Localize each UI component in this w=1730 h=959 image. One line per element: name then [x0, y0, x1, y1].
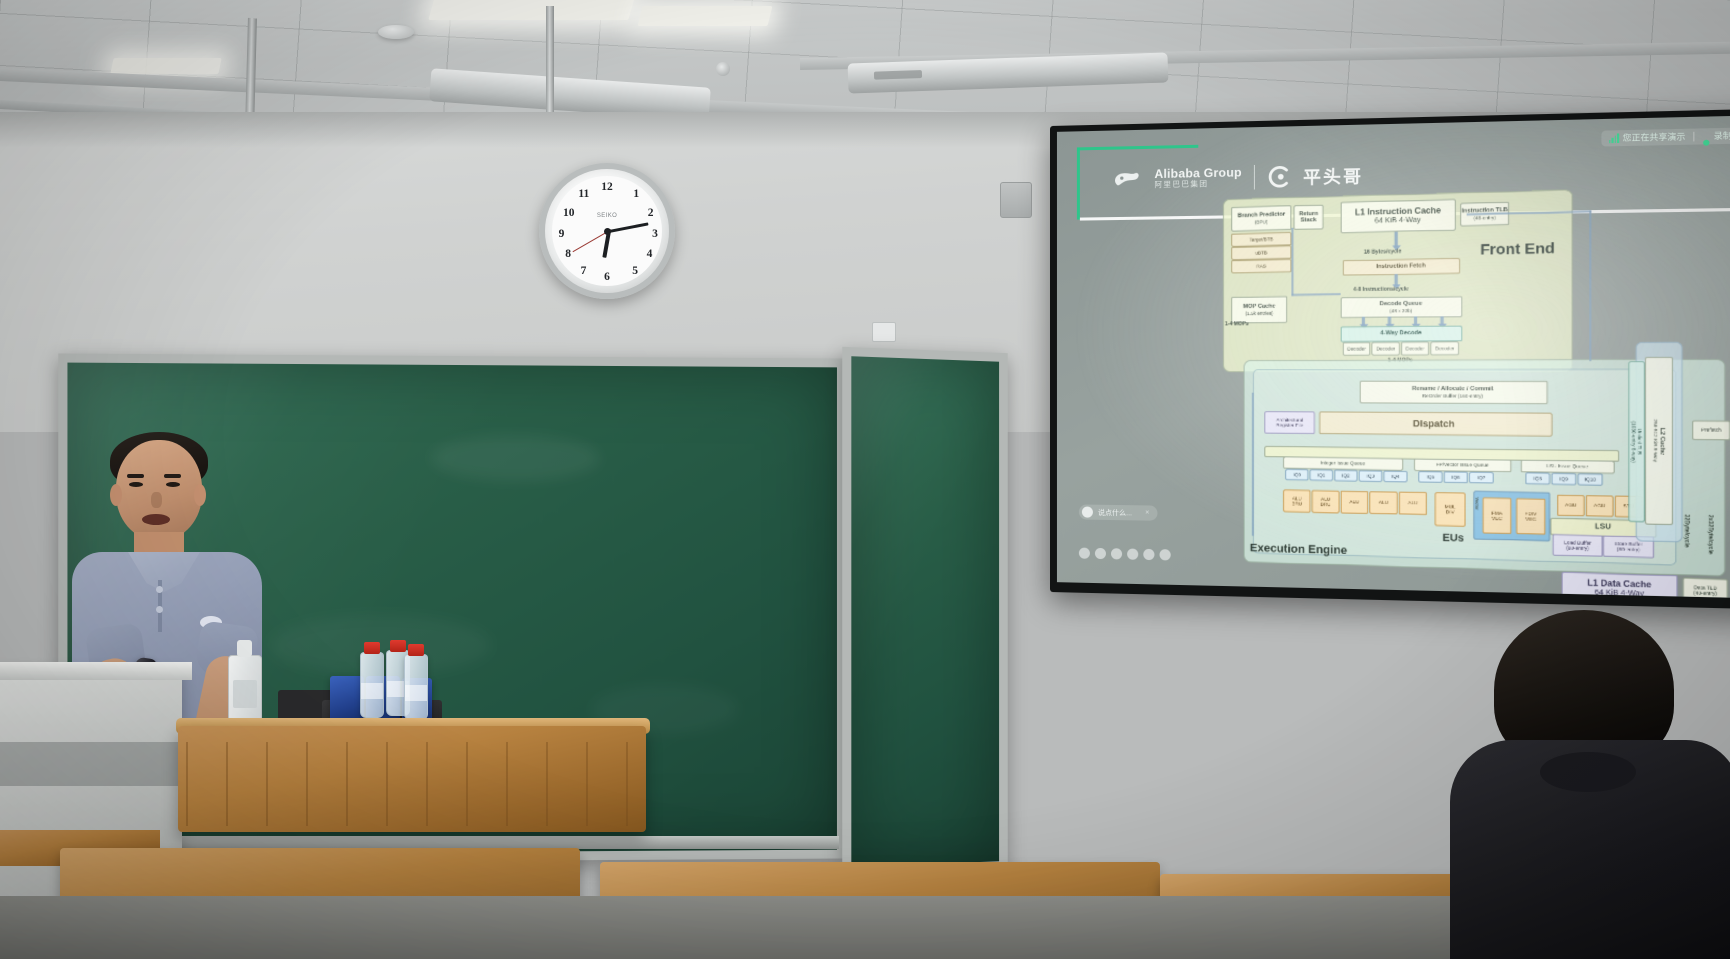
issue-slot: IQ7 [1469, 472, 1494, 484]
clock-numeral: 3 [652, 228, 658, 240]
clock-numeral: 12 [601, 181, 613, 193]
brand-divider [1254, 164, 1255, 189]
block-decoder: Decoder [1430, 342, 1459, 356]
flow-label-mops: 1-4 MOPs [1225, 321, 1249, 327]
block-decode-queue: Decode Queue (48 x 32b) [1340, 296, 1462, 318]
issue-slot: IQ10 [1578, 473, 1603, 485]
issue-slot: IQ2 [1334, 470, 1358, 482]
connector [1589, 210, 1591, 361]
block-prefetch: Prefetch [1692, 420, 1730, 440]
slide-branding: Alibaba Group 阿里巴巴集团 平头哥 [1112, 162, 1363, 192]
block-instruction-fetch: Instruction Fetch [1343, 258, 1461, 276]
eus-label: EUs [1442, 532, 1464, 544]
flow-label-instructions-cycle: 4-8 Instructions/cycle [1353, 286, 1408, 293]
issue-slot: IQ5 [1418, 471, 1442, 483]
avatar [1082, 506, 1093, 517]
exec-unit: ALU [1399, 492, 1427, 516]
clock-numeral: 5 [632, 265, 638, 277]
sprinkler-head-icon [716, 62, 730, 76]
wall-clock: 12 1 2 3 4 5 6 7 8 9 10 11 SEIKO [539, 163, 675, 299]
flow-label-bytes-cycle: 16 Bytes/cycle [1364, 249, 1401, 256]
exec-unit: MULDIV [1435, 492, 1466, 526]
issue-slot: IQ4 [1383, 470, 1407, 482]
ceiling-light-panel [110, 58, 221, 74]
flow-arrow [1440, 316, 1443, 324]
issue-slot: IQ3 [1359, 470, 1383, 482]
sharing-status: 您正在共享演示 [1609, 131, 1686, 144]
signal-bars-icon [1609, 134, 1619, 143]
clock-brand-label: SEIKO [597, 213, 617, 219]
toolbar-eraser-icon[interactable] [1095, 548, 1106, 559]
presentation-slide: Alibaba Group 阿里巴巴集团 平头哥 [1057, 115, 1730, 599]
seated-attendee [1468, 610, 1730, 959]
block-rename-allocate-commit: Rename / Allocate / Commit ReOrder Buffe… [1360, 381, 1548, 405]
chalk-smudge [431, 435, 600, 482]
thead-name-cn: 平头哥 [1303, 162, 1363, 189]
exec-unit-agu: AGU [1586, 495, 1614, 517]
flow-arrow [1414, 317, 1417, 325]
block-decoder: Decoder [1343, 342, 1371, 356]
front-end-label: Front End [1480, 239, 1555, 257]
sharing-status-label: 您正在共享演示 [1623, 131, 1686, 144]
blue-box [330, 676, 364, 722]
slide-accent-line [1077, 147, 1080, 219]
ceiling-light-panel [428, 0, 635, 20]
flow-arrow [1362, 317, 1365, 325]
recording-status[interactable]: 录制中 [1702, 130, 1730, 143]
ceiling-light-panel [638, 6, 773, 26]
block-ras: RAS [1231, 259, 1291, 273]
clock-dial: 12 1 2 3 4 5 6 7 8 9 10 11 SEIKO [552, 176, 662, 286]
toolbar-shape-icon[interactable] [1111, 548, 1122, 559]
recording-status-label: 录制中 [1714, 130, 1730, 142]
water-bottle [404, 654, 428, 720]
block-branch-predictor: Branch Predictor (BPU) [1231, 205, 1291, 231]
flow-arrow [1394, 274, 1397, 286]
exec-unit: ALU [1369, 491, 1397, 515]
block-unified-tlb: Unified TLB (1030-entry 8-way) [1628, 361, 1644, 522]
vector-label: Vector [1475, 497, 1481, 510]
meeting-toolbar[interactable] [1079, 548, 1171, 561]
clock-numeral: 11 [578, 188, 589, 200]
clock-numeral: 7 [581, 265, 587, 277]
lecture-hall-scene: 12 1 2 3 4 5 6 7 8 9 10 11 SEIKO [0, 0, 1730, 959]
exec-unit: ALUBRU [1283, 489, 1310, 512]
toolbar-pen-icon[interactable] [1079, 548, 1090, 559]
issue-slot: IQ0 [1285, 469, 1308, 481]
blackboard-side [842, 347, 1007, 876]
flow-arrow [1394, 232, 1397, 247]
wall-socket [872, 322, 896, 342]
alibaba-name-cn: 阿里巴巴集团 [1154, 179, 1241, 189]
block-load-buffer: Load Buffer (80-entry) [1552, 534, 1603, 557]
block-4-way-decode: 4-Way Decode [1340, 326, 1462, 342]
toolbar-more-icon[interactable] [1143, 549, 1154, 560]
table-slats [186, 742, 638, 826]
flow-arrow [1388, 317, 1391, 325]
exec-unit: ALU [1340, 491, 1368, 514]
exec-unit-fma: FMAVEC [1482, 497, 1511, 534]
block-return-stack: Return Stack [1294, 205, 1324, 231]
clock-numeral: 4 [647, 248, 653, 260]
block-dispatch: Dispatch [1319, 412, 1552, 437]
block-l1-instruction-cache: L1 Instruction Cache 64 KiB 4-Way [1340, 199, 1455, 233]
chat-input-bubble[interactable]: 说点什么... × [1079, 504, 1158, 520]
issue-slot: IQ9 [1551, 473, 1576, 485]
block-decoder: Decoder [1372, 342, 1400, 356]
issue-slot: IQ8 [1525, 473, 1550, 485]
clock-numeral: 10 [563, 207, 575, 219]
hand-sanitizer-bottle [228, 655, 262, 727]
projected-slide-surface[interactable]: Alibaba Group 阿里巴巴集团 平头哥 [1057, 115, 1730, 599]
block-mop-cache: MOP Cache (1.5k entries) [1231, 296, 1287, 323]
block-ubtb: uBTB [1231, 246, 1291, 260]
issue-slot: IQ1 [1310, 469, 1333, 481]
exec-unit-agu: AGU [1557, 494, 1585, 516]
projection-screen: Alibaba Group 阿里巴巴集团 平头哥 [1050, 108, 1730, 609]
thead-logo-icon [1268, 165, 1291, 188]
chat-placeholder: 说点什么... [1098, 507, 1132, 518]
toolbar-undo-icon[interactable] [1127, 549, 1138, 560]
block-l1-data-cache: L1 Data Cache 64 KiB 4-Way [1562, 572, 1678, 599]
wall-panel [1000, 182, 1032, 218]
block-btb: Target/BTB [1231, 232, 1291, 247]
close-icon[interactable]: × [1145, 509, 1149, 516]
block-architectural-register-file: Architectural Register File [1264, 411, 1314, 434]
alibaba-logo-icon [1112, 168, 1142, 191]
block-data-tlb: Data TLB (48-entry) [1683, 578, 1728, 599]
toolbar-exit-icon[interactable] [1160, 549, 1171, 560]
screen-share-status-bar: 您正在共享演示 录制中 [1601, 127, 1730, 146]
connector [1252, 393, 1254, 536]
connector [1292, 228, 1294, 296]
clock-center-pin [604, 228, 611, 235]
presenter-mouth-speaking [142, 514, 170, 525]
clock-numeral: 9 [559, 228, 565, 240]
water-bottle [360, 652, 384, 718]
clock-numeral: 2 [648, 207, 654, 219]
clock-minute-hand [607, 222, 649, 233]
clock-numeral: 1 [633, 188, 639, 200]
bandwidth-label: 2x32Byte/cycle [1706, 515, 1713, 555]
presenter-head [116, 440, 202, 540]
smoke-detector-icon [378, 25, 414, 39]
issue-slot: IQ6 [1444, 471, 1468, 483]
record-icon [1702, 133, 1710, 141]
exec-unit-fdiv: FDIVVEC [1516, 498, 1545, 535]
block-l2-cache: L2 Cache 256-512 KiB 8-Way [1645, 357, 1673, 525]
block-decoder: Decoder [1401, 342, 1429, 356]
clock-numeral: 8 [565, 248, 571, 260]
exec-unit: ALUBRU [1312, 490, 1340, 513]
lectern-top [0, 662, 192, 680]
bandwidth-label: 32Byte/cycle [1683, 514, 1690, 547]
clock-numeral: 6 [604, 271, 610, 283]
cpu-block-diagram: Branch Predictor (BPU) Return Stack L1 I… [1207, 184, 1730, 599]
